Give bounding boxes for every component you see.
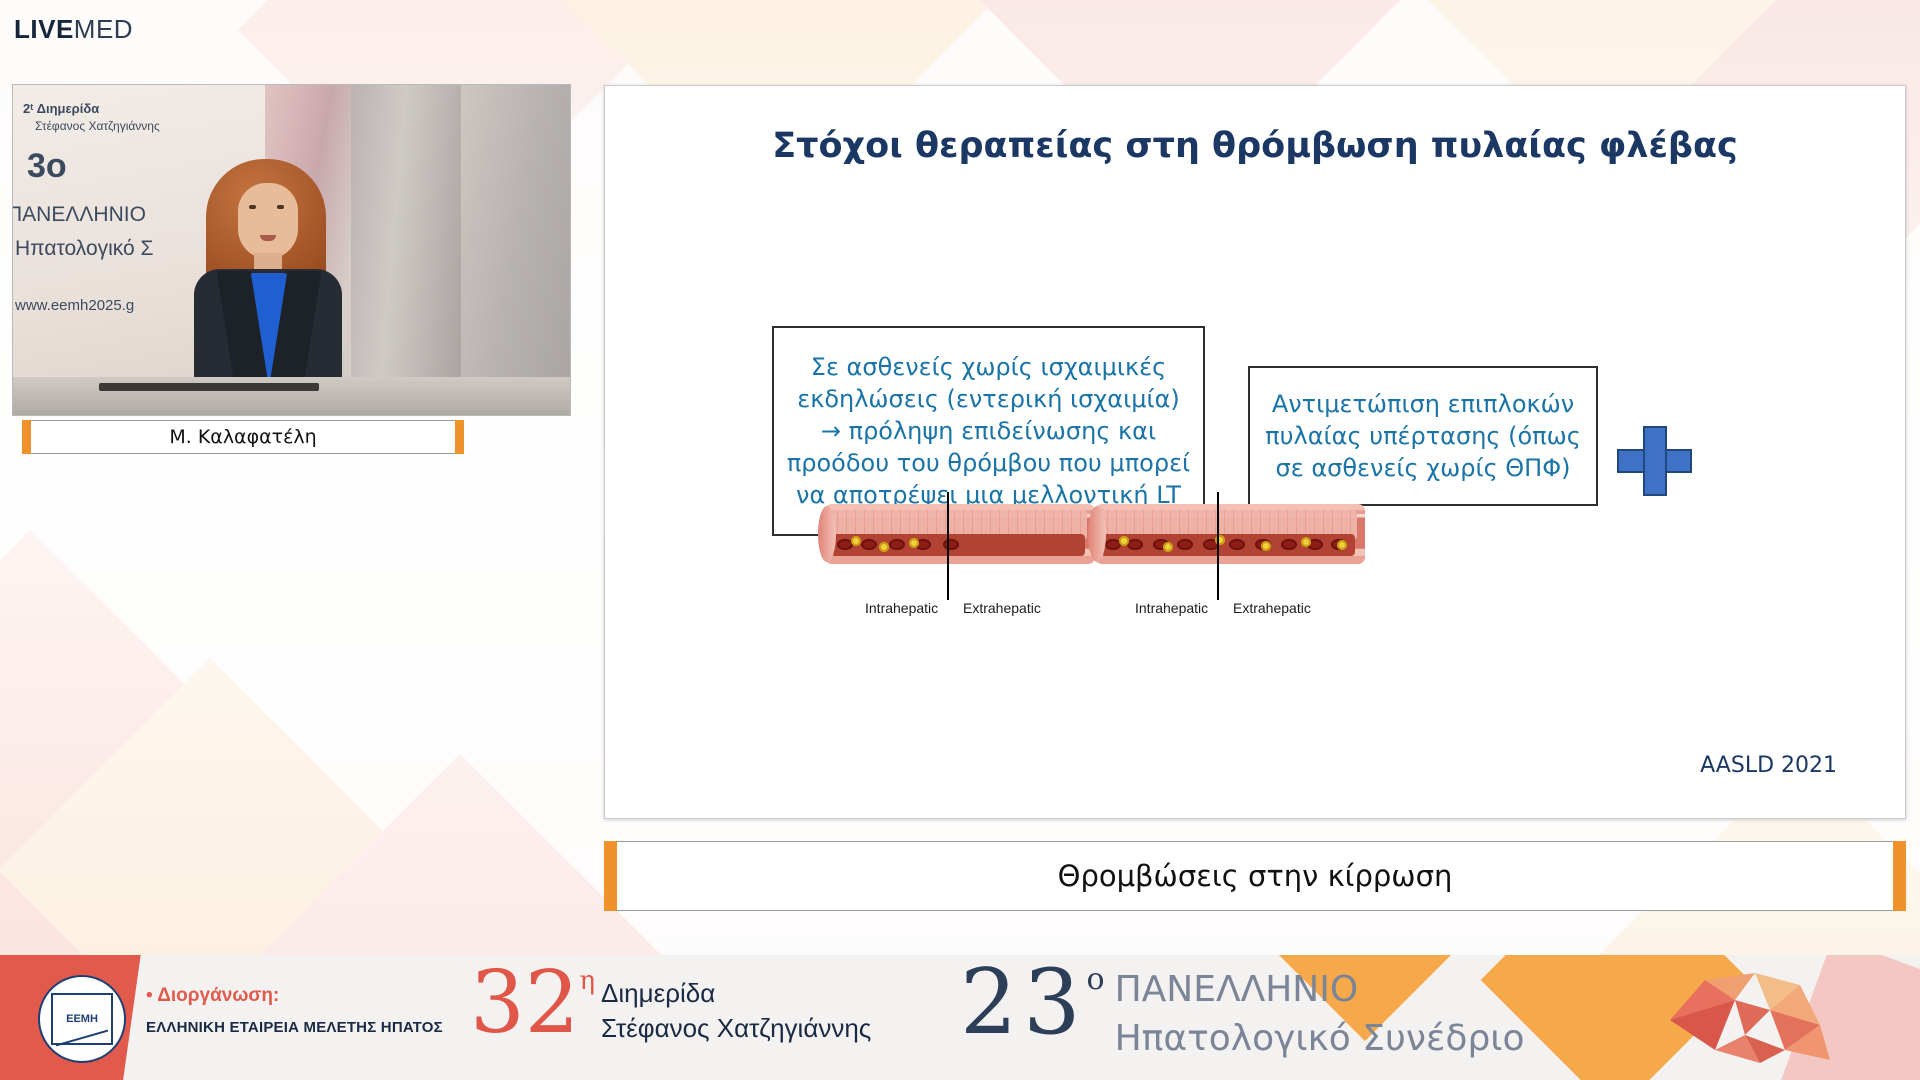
poster-line-3: 3ο <box>27 147 67 186</box>
backdrop-pillar <box>351 85 461 415</box>
plus-icon <box>1617 426 1692 496</box>
event-32-line2: Στέφανος Χατζηγιάννης <box>601 1013 871 1043</box>
vessel-label-intrahepatic-2: Intrahepatic <box>1135 600 1208 616</box>
video-frame: 2ᵗ Διημερίδα Στέφανος Χατζηγιάννης 3ο ΠΑ… <box>13 85 570 415</box>
organizer-name: ΕΛΛΗΝΙΚΗ ΕΤΑΙΡΕΙΑ ΜΕΛΕΤΗΣ ΗΠΑΤΟΣ <box>146 1019 443 1036</box>
organizer-label: • Διοργάνωση: <box>146 985 443 1007</box>
logo-med-text: MED <box>74 14 133 44</box>
poster-line-1: 2ᵗ Διημερίδα <box>23 101 99 116</box>
session-title-label: Θρομβώσεις στην κίρρωση <box>1058 859 1453 893</box>
slide-citation: AASLD 2021 <box>1700 753 1837 778</box>
vessel-opening-1 <box>818 506 836 562</box>
vessel-label-intrahepatic-1: Intrahepatic <box>865 600 938 616</box>
vessel-tube-2 <box>1095 504 1365 564</box>
presentation-slide[interactable]: Στόχοι θεραπείας στη θρόμβωση πυλαίας φλ… <box>604 85 1906 819</box>
event-32-number: 32 <box>470 960 579 1046</box>
speaker-name-plate: Μ. Καλαφατέλη <box>22 420 464 454</box>
poster-line-2: Στέφανος Χατζηγιάννης <box>35 119 160 133</box>
speaker-face <box>238 183 298 259</box>
vessel-diagram-2: Intrahepatic Extrahepatic <box>1095 504 1365 576</box>
slide-session-footer: Θρομβώσεις στην κίρρωση <box>604 841 1906 911</box>
speaker-figure <box>188 153 348 403</box>
seal-inner-label: EEMH <box>51 993 113 1045</box>
speaker-video-player[interactable]: 2ᵗ Διημερίδα Στέφανος Χατζηγιάννης 3ο ΠΑ… <box>13 85 570 415</box>
vessel-tube-1 <box>825 504 1095 564</box>
event-23-number: 23 <box>960 958 1087 1048</box>
vessel-divider-2 <box>1217 492 1219 600</box>
speaker-name-label: Μ. Καλαφατέλη <box>169 426 316 448</box>
vessel-lumen-1 <box>831 534 1085 556</box>
speaker-eye-left <box>249 205 256 209</box>
poster-line-5: Ηπατολογικό Σ <box>15 237 154 261</box>
name-plate-accent-left <box>22 420 31 454</box>
vessel-lumen-2 <box>1101 534 1355 556</box>
event-23rd-block: 23 ο ΠΑΝΕΛΛΗΝΙΟ Ηπατολογικό Συνέδριο <box>960 958 1525 1063</box>
event-23-line2: Ηπατολογικό Συνέδριο <box>1115 1018 1525 1059</box>
event-32-line1: Διημερίδα <box>601 978 715 1008</box>
portal-vein-figures: Intrahepatic Extrahepatic Intrahep <box>755 504 1755 644</box>
liver-logo-icon <box>1660 965 1850 1070</box>
vessel-opening-2 <box>1088 506 1106 562</box>
slide-title: Στόχοι θεραπείας στη θρόμβωση πυλαίας φλ… <box>665 124 1845 170</box>
event-23-line1: ΠΑΝΕΛΛΗΝΙΟ <box>1115 969 1359 1010</box>
footer-accent-right <box>1893 841 1906 911</box>
podium-desk <box>13 377 570 415</box>
vessel-diagram-1: Intrahepatic Extrahepatic <box>825 504 1095 576</box>
name-plate-accent-right <box>455 420 464 454</box>
poster-line-6: www.eemh2025.g <box>15 297 134 314</box>
event-32nd-block: 32 η Διημερίδα Στέφανος Χατζηγιάννης <box>470 960 871 1046</box>
conference-banner: EEMH • Διοργάνωση: ΕΛΛΗΝΙΚΗ ΕΤΑΙΡΕΙΑ ΜΕΛ… <box>0 955 1920 1080</box>
vessel-label-extrahepatic-2: Extrahepatic <box>1233 600 1311 616</box>
vessel-divider-1 <box>947 492 949 600</box>
treatment-goal-box-right: Αντιμετώπιση επιπλοκών πυλαίας υπέρτασης… <box>1248 366 1598 506</box>
poster-line-4: ΠΑΝΕΛΛΗΝΙΟ <box>13 203 146 227</box>
event-23-ordinal: ο <box>1087 962 1105 997</box>
plus-icon-vertical <box>1643 426 1667 496</box>
event-32-ordinal: η <box>579 966 595 996</box>
livemed-logo: LIVEMED <box>14 14 133 45</box>
vessel-label-extrahepatic-1: Extrahepatic <box>963 600 1041 616</box>
footer-accent-left <box>604 841 617 911</box>
speaker-eye-right <box>277 205 284 209</box>
organizer-block: • Διοργάνωση: ΕΛΛΗΝΙΚΗ ΕΤΑΙΡΕΙΑ ΜΕΛΕΤΗΣ … <box>146 985 443 1036</box>
logo-live-text: LIVE <box>14 14 74 44</box>
eemh-society-seal-logo: EEMH <box>38 975 126 1063</box>
